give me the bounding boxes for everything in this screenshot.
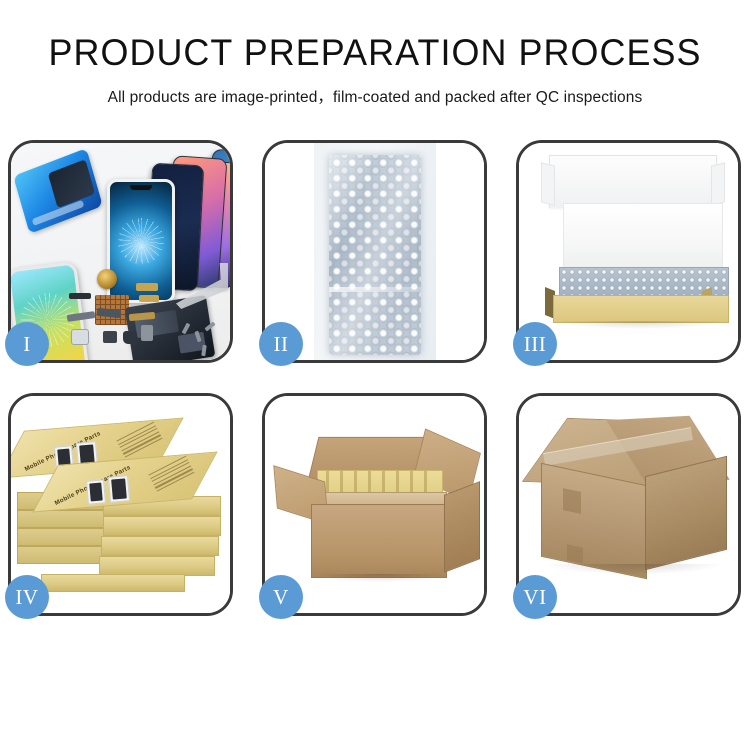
page-header: PRODUCT PREPARATION PROCESS All products… (0, 0, 750, 107)
sealed-carton-icon (519, 396, 738, 613)
phone-parts-icon (11, 143, 230, 360)
box-lid (549, 155, 717, 208)
step-badge-5: V (259, 575, 303, 619)
process-step-panel-1[interactable]: I (8, 140, 233, 363)
carton-side-face (444, 481, 480, 573)
step-badge-4: IV (5, 575, 49, 619)
phone-lineup (107, 157, 227, 297)
foam-sheet (563, 203, 723, 271)
process-step-panel-6[interactable]: VI (516, 393, 741, 616)
open-carton-icon (265, 396, 484, 613)
step-badge-3: III (513, 322, 557, 366)
screws-group (182, 319, 222, 359)
adhesive-flex-part (13, 148, 103, 234)
kraft-box-base (553, 295, 729, 323)
step-2-image (265, 143, 484, 360)
stacked-boxes-icon: Mobile Phone Spare Parts Mobile Phone Sp… (11, 396, 230, 613)
process-step-panel-5[interactable]: V (262, 393, 487, 616)
step-badge-6: VI (513, 575, 557, 619)
step-4-image: Mobile Phone Spare Parts Mobile Phone Sp… (11, 396, 230, 613)
open-white-box-icon (519, 143, 738, 360)
speaker-coil-part (97, 269, 117, 289)
step-1-image (11, 143, 230, 360)
page-subtitle: All products are image-printed，film-coat… (0, 85, 750, 107)
carton-right-face (645, 456, 727, 570)
step-6-image (519, 396, 738, 613)
step-badge-2: II (259, 322, 303, 366)
carton-front-face (311, 504, 447, 578)
step-badge-1: I (5, 322, 49, 366)
process-step-panel-3[interactable]: III (516, 140, 741, 363)
bubble-wrap-icon (265, 143, 484, 360)
page-title: PRODUCT PREPARATION PROCESS (11, 34, 739, 73)
step-3-image (519, 143, 738, 360)
process-step-panel-4[interactable]: Mobile Phone Spare Parts Mobile Phone Sp… (8, 393, 233, 616)
process-step-grid: I II (8, 140, 742, 616)
step-5-image (265, 396, 484, 613)
process-step-panel-2[interactable]: II (262, 140, 487, 363)
